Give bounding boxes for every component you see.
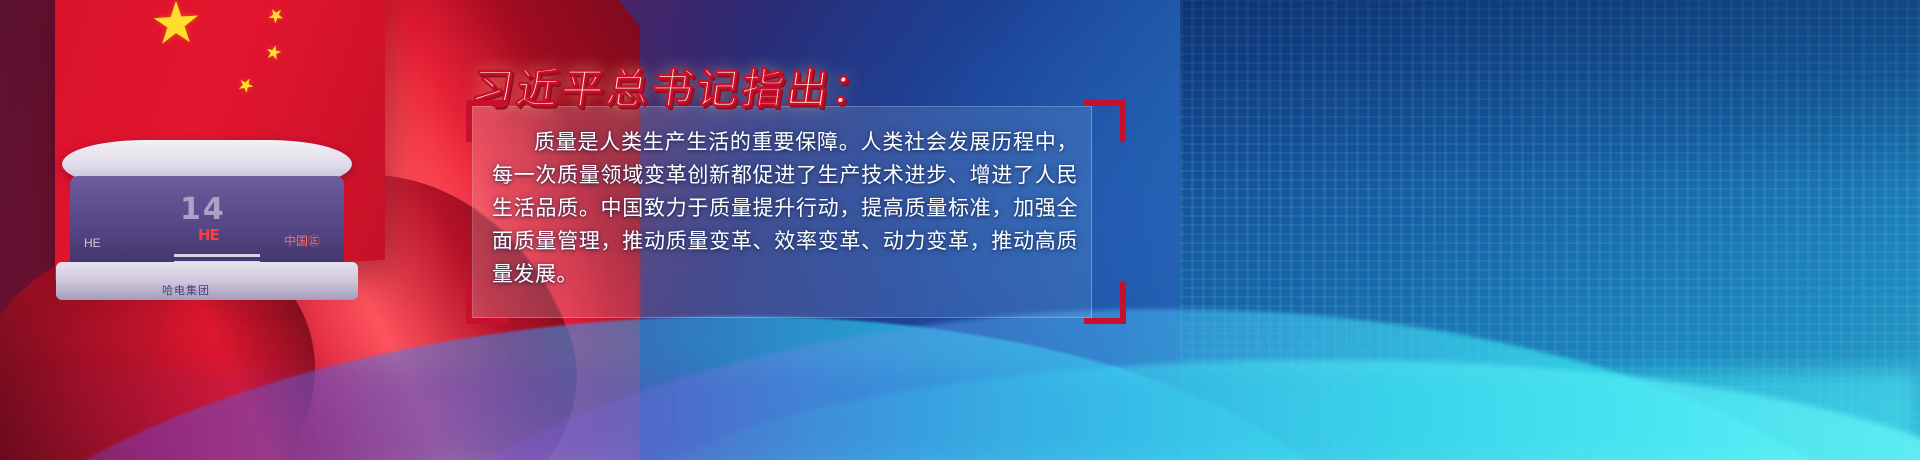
generator-unit-number: 14 xyxy=(180,192,226,227)
bracket-bottom-right xyxy=(1084,282,1126,324)
flag-star-small-4: ★ xyxy=(233,74,257,99)
flag-star-small-2: ★ xyxy=(263,3,288,29)
promo-banner: 哈电集团 ★ ★ ★ ★ ★ 14 HE HE 中国㊣ 哈电集团 习近平 xyxy=(0,0,1920,460)
flag-star-small-3: ★ xyxy=(263,42,284,64)
generator-unit: 14 HE HE 中国㊣ 哈电集团 xyxy=(62,140,352,300)
flag-star-large: ★ xyxy=(150,0,202,54)
bracket-top-right xyxy=(1084,100,1126,142)
generator-right-mark: 中国㊣ xyxy=(284,232,320,249)
generator-brand-label: 哈电集团 xyxy=(162,282,210,298)
page-title: 习近平总书记指出： xyxy=(468,55,882,116)
generator-left-mark: HE xyxy=(84,236,101,250)
quote-text: 质量是人类生产生活的重要保障。人类社会发展历程中，每一次质量领域变革创新都促进了… xyxy=(492,126,1078,291)
generator-logo: HE xyxy=(198,226,219,244)
bottom-glow xyxy=(0,370,1920,460)
